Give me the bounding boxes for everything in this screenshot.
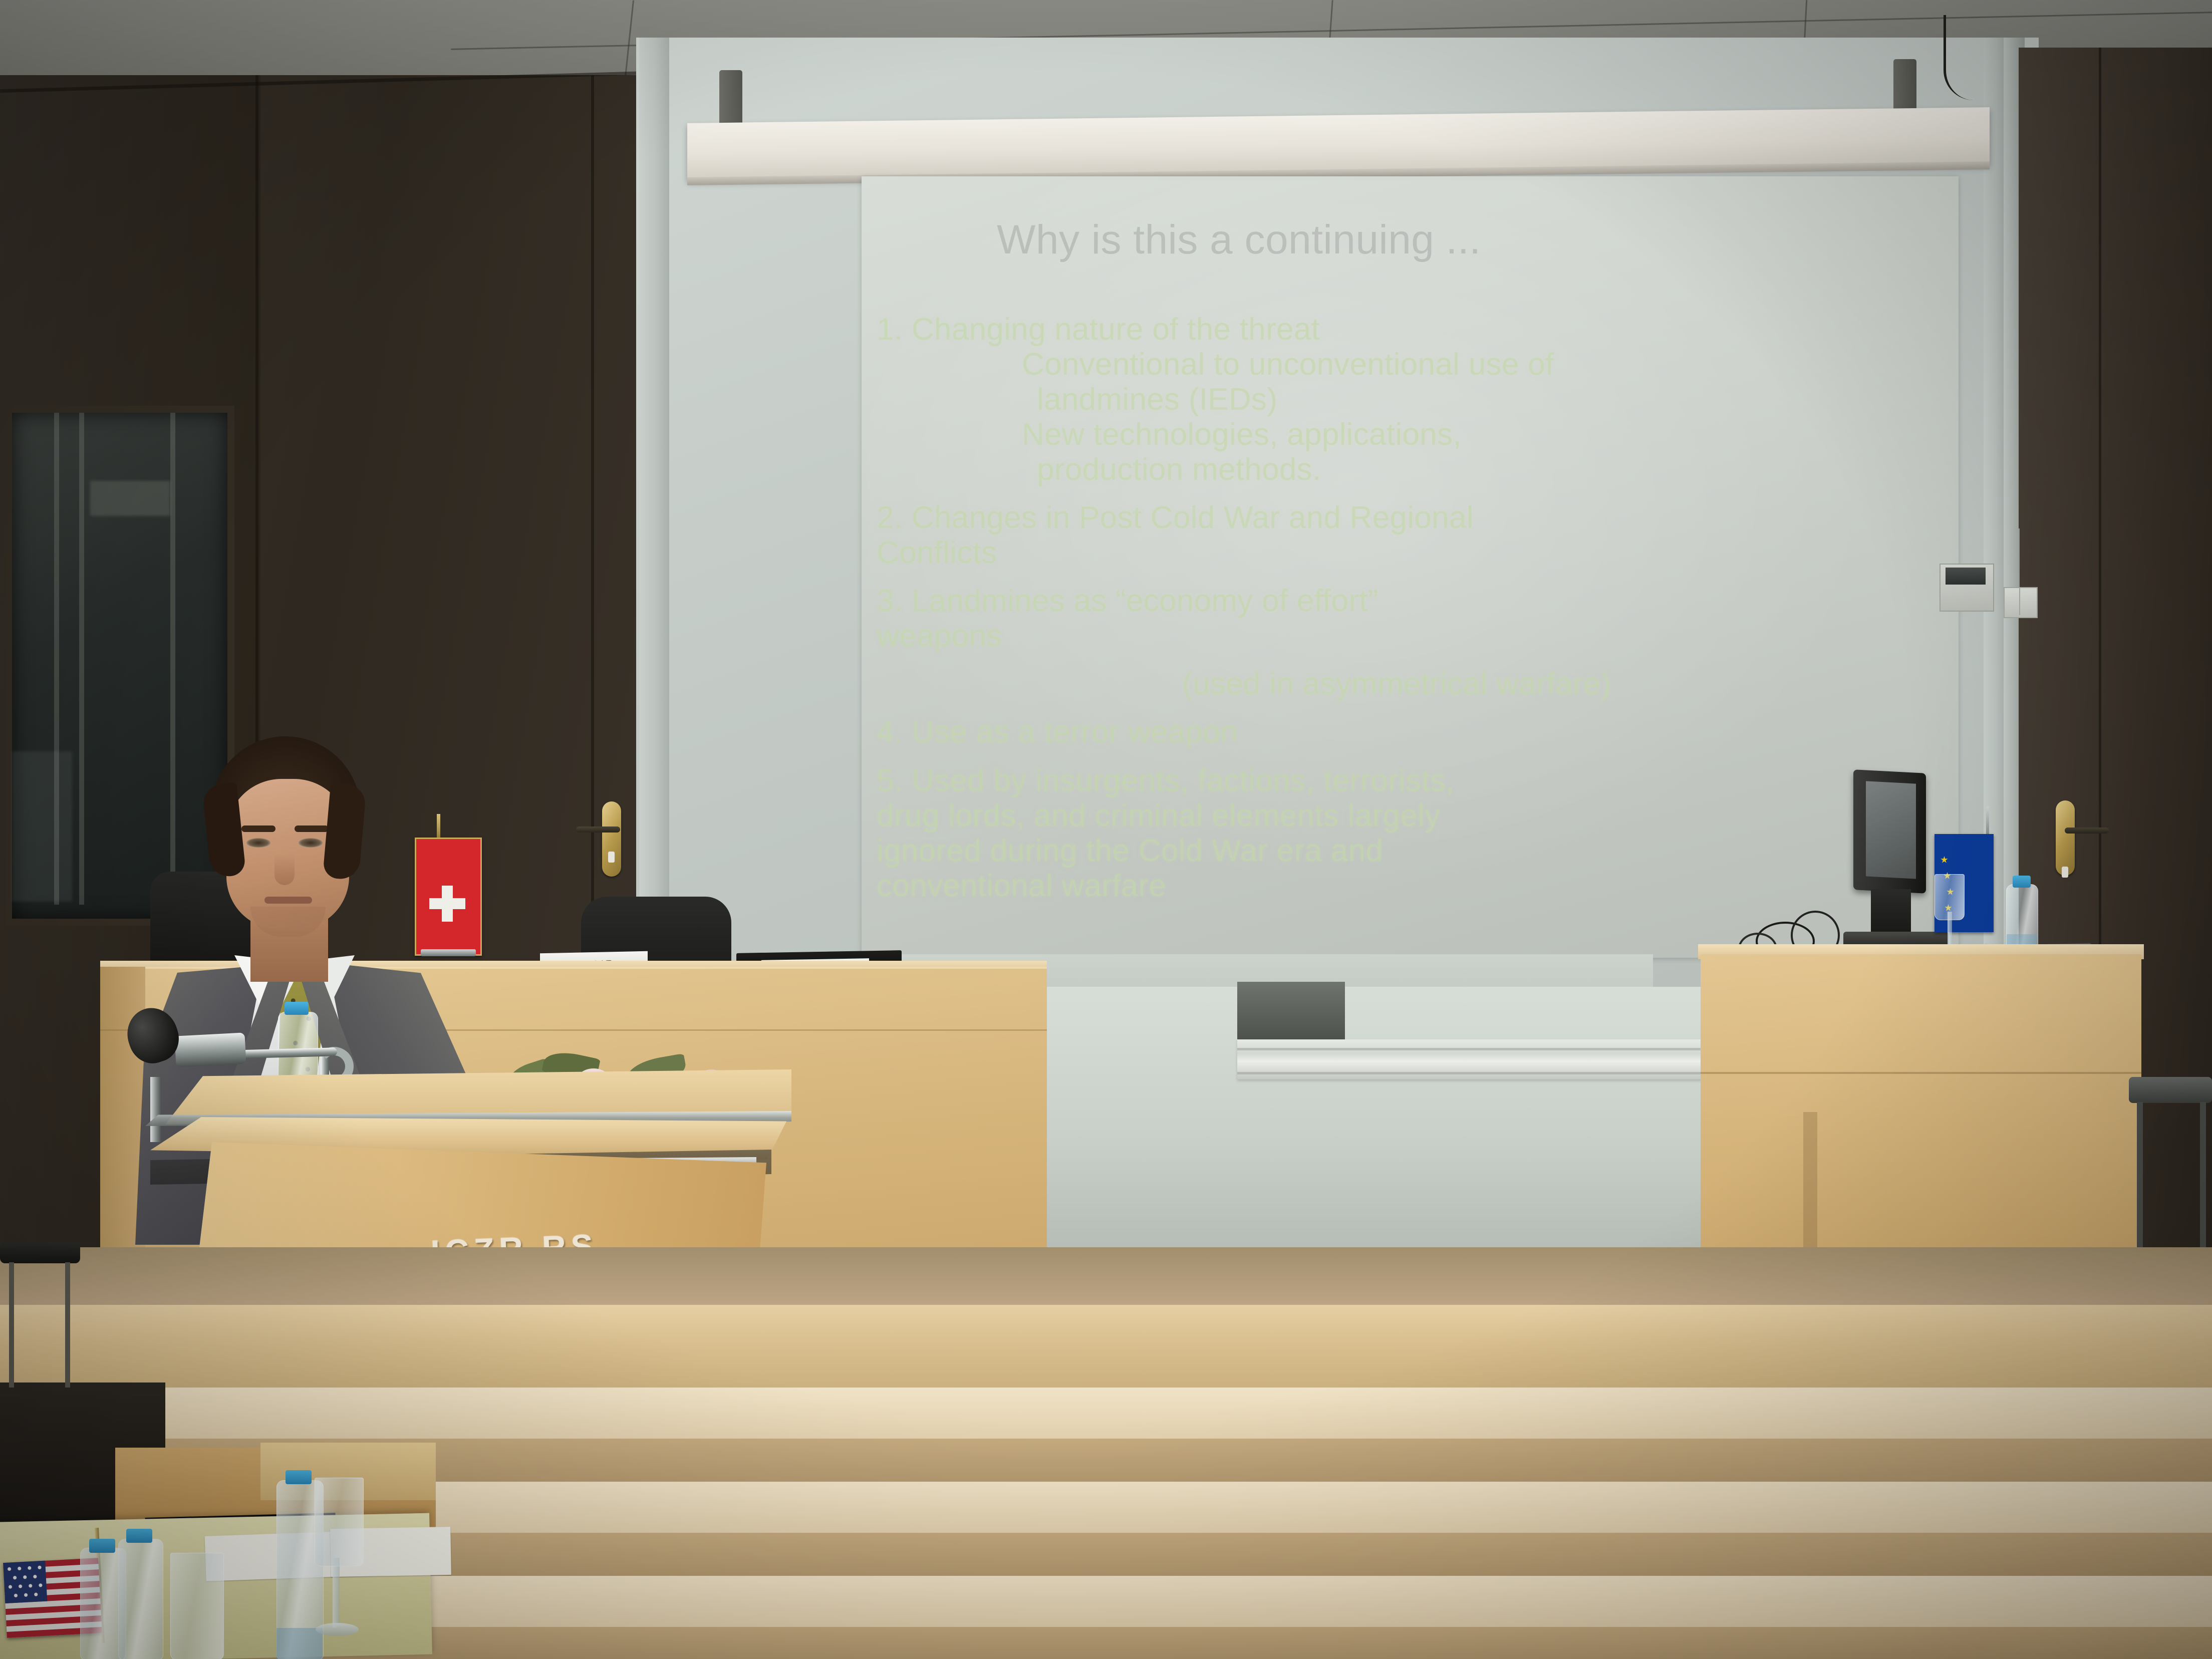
eyebrow-left (241, 825, 275, 832)
window-reflection (90, 481, 170, 516)
bottle-cap (89, 1539, 115, 1553)
slide-line: weapons (872, 619, 1933, 654)
microphone-stem (150, 1077, 161, 1142)
slide-line-gap (872, 750, 1933, 763)
stool-seat (0, 1242, 80, 1263)
slide-title: Why is this a continuing ... (997, 216, 1481, 263)
glass-stem (333, 1558, 340, 1628)
drinking-glass[interactable] (315, 1478, 364, 1566)
slide-line-gap (872, 571, 1933, 584)
slide-line: New technologies, applications, (872, 417, 1933, 452)
bottle-cap (2013, 876, 2031, 888)
slide-line: ignored during the Cold War era and (872, 834, 1933, 869)
door-handle-plate-left[interactable] (602, 801, 621, 877)
door-handle-lever-right[interactable] (2065, 827, 2109, 834)
slide-line-gap (872, 702, 1933, 715)
nose (274, 854, 295, 885)
hair-side-right (323, 782, 367, 881)
microphone-body (174, 1032, 246, 1067)
step-riser (0, 1388, 2212, 1440)
mouth (264, 897, 312, 904)
slide-line: (used in asymmetrical warfare) (872, 667, 1933, 702)
door-keyhole-left (608, 852, 615, 863)
slide-line: Conflicts (872, 535, 1933, 571)
monitor-screen (1866, 781, 1916, 879)
drinking-glass[interactable] (1934, 874, 1965, 920)
slide-line-gap (872, 487, 1933, 500)
slide-line: conventional warfare (872, 869, 1933, 904)
eye-right (299, 838, 323, 848)
slide-line: Conventional to unconventional use of (872, 347, 1933, 382)
slide-line-gap (872, 654, 1933, 667)
slide-line: 3. Landmines as “economy of effort” (872, 584, 1933, 619)
slide-line: 2. Changes in Post Cold War and Regional (872, 500, 1933, 535)
bottle-cap (285, 1002, 309, 1015)
eyebrow-right (295, 825, 329, 832)
control-panel-display (1946, 568, 1986, 585)
light-switch[interactable] (2004, 587, 2038, 618)
water-bottle[interactable] (118, 1539, 163, 1659)
slide-content: Why is this a continuing ... 1. Changing… (862, 176, 1959, 958)
slide-line: production methods. (872, 452, 1933, 487)
door-handle-plate-right[interactable] (2056, 800, 2075, 876)
glass-foot (316, 1623, 359, 1636)
slide-line: 4. Use as a terror weapon (872, 715, 1933, 750)
bottle-label (276, 1628, 323, 1659)
slide-line: 5. Used by insurgents, factions, terrori… (872, 763, 1933, 798)
bottle-cap (126, 1529, 152, 1543)
stool-leg (65, 1262, 70, 1388)
window-mullion (79, 413, 84, 905)
conference-room-scene: Why is this a continuing ... 1. Changing… (0, 0, 2212, 1659)
drinking-glass[interactable] (170, 1553, 224, 1659)
projector-cable (1944, 15, 1981, 100)
desk-seam (1701, 1072, 2141, 1074)
stage-top (0, 1247, 2212, 1307)
window-reflection (12, 751, 72, 902)
bottle-cap (286, 1470, 312, 1484)
stool-leg (9, 1262, 14, 1388)
stool-seat (2129, 1077, 2212, 1103)
switch-wire (2019, 528, 2020, 588)
eye-left (246, 838, 270, 848)
door-keyhole-right (2062, 867, 2068, 878)
light-switch-divider (2019, 588, 2020, 615)
stage-front (0, 1305, 2212, 1390)
slide-line: 1. Changing nature of the threat (872, 312, 1933, 347)
stool-left[interactable] (0, 1242, 80, 1388)
slide-line-gap (872, 299, 1933, 312)
slide-line: drug lords, and criminal elements largel… (872, 798, 1933, 834)
slide-body: 1. Changing nature of the threatConventi… (872, 299, 1933, 904)
wall-recess (1237, 982, 1345, 1039)
door-handle-lever-left[interactable] (576, 826, 620, 833)
slide-line: landmines (IEDs) (872, 382, 1933, 417)
wall-skirt-panel (1047, 987, 1758, 1247)
